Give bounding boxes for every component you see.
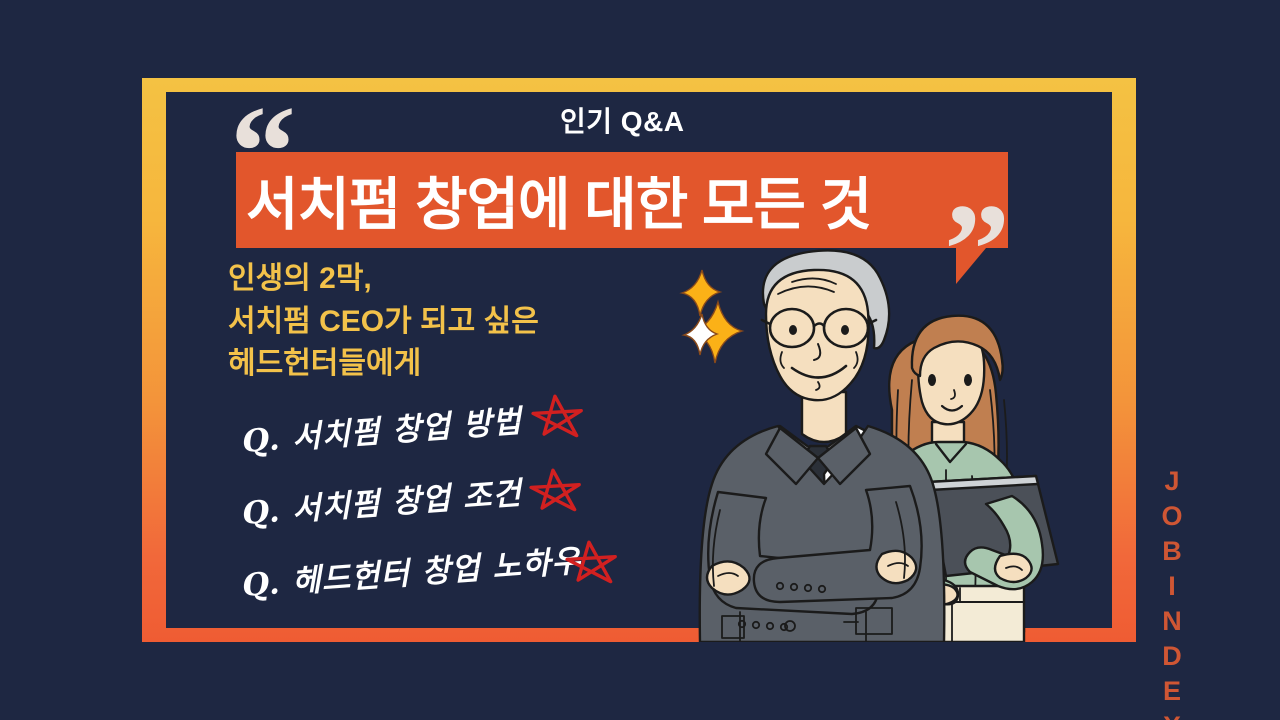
quote-close-icon: ” [944,184,1010,316]
star-icon [562,540,622,599]
page-title: 서치펌 창업에 대한 모든 것 [246,150,1026,250]
brand-wordmark: JOBINDEX [1156,466,1187,720]
star-icon [528,394,588,453]
eyebrow-label: 인기 Q&A [560,100,685,140]
list-item: Q. 서치펌 창업 방법 [236,408,656,480]
subtitle-text: 인생의 2막, 서치펌 CEO가 되고 싶은 헤드헌터들에게 [228,258,539,386]
quote-open-icon: “ [230,86,296,218]
sparkle-icons [676,258,806,378]
star-icon [526,468,586,527]
poster-canvas: 인기 Q&A 서치펌 창업에 대한 모든 것 “ ” 인생의 2막, 서치펌 C… [0,0,1280,720]
